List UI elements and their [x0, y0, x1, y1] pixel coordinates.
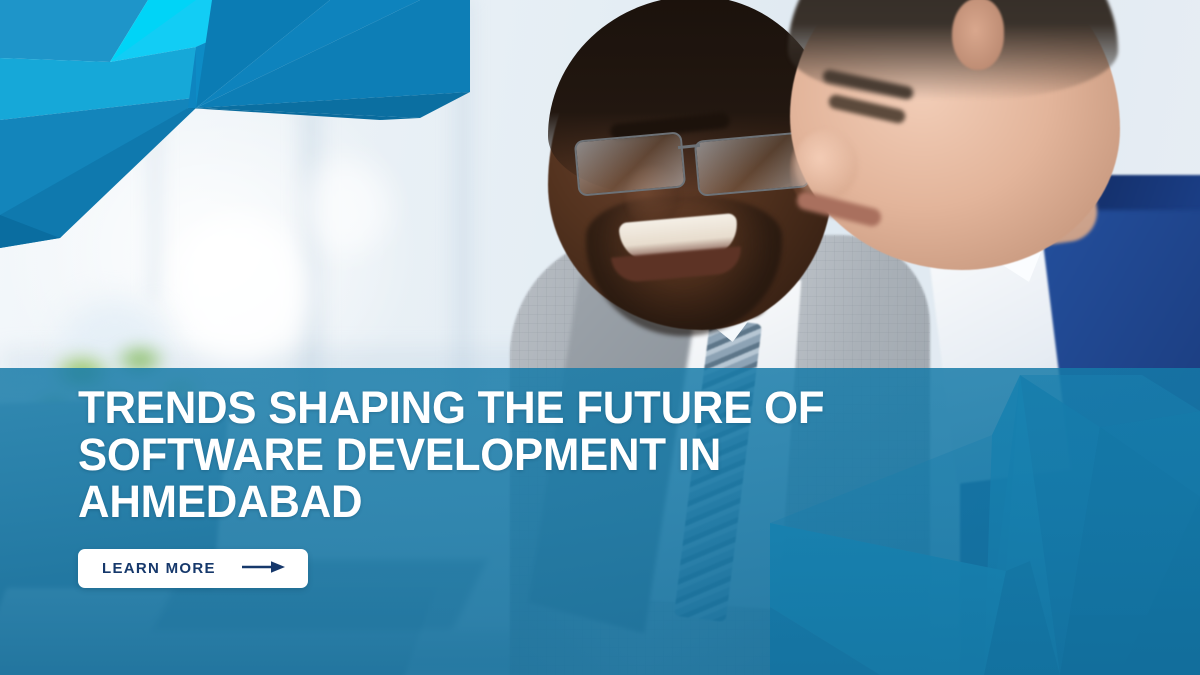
learn-more-button[interactable]: LEARN MORE	[78, 549, 308, 588]
polygon-decoration-top-left	[0, 0, 470, 250]
arrow-right-icon	[242, 560, 286, 577]
ear	[952, 0, 1004, 70]
banner-content: Trends Shaping the Future of Software De…	[78, 384, 1140, 588]
page-title: Trends Shaping the Future of Software De…	[78, 384, 1009, 525]
hair	[788, 0, 1118, 100]
glasses-lens-left	[574, 131, 686, 196]
nose	[794, 130, 858, 200]
hero-banner: Trends Shaping the Future of Software De…	[0, 0, 1200, 675]
learn-more-label: LEARN MORE	[102, 560, 216, 577]
